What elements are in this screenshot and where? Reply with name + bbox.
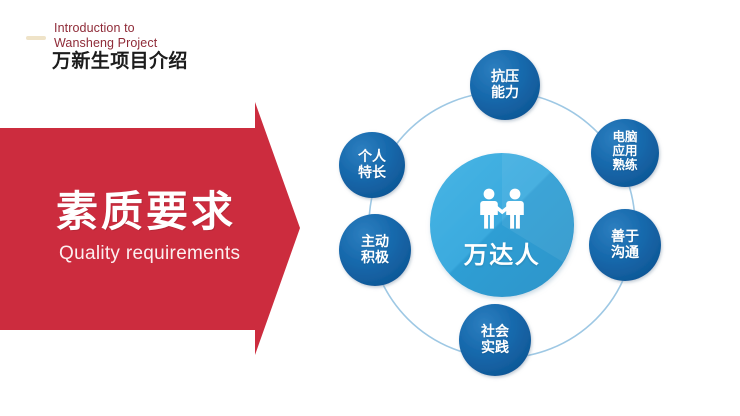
node-resilience: [470, 50, 540, 120]
header-dash-icon: [26, 36, 46, 40]
node-personal-skill: [339, 132, 405, 198]
center-node: [430, 153, 574, 297]
slide-header: Introduction to Wansheng Project 万新生项目介绍: [0, 0, 300, 95]
diagram-graphics: [320, 22, 720, 402]
header-eyebrow-en: Introduction to Wansheng Project: [54, 21, 157, 50]
banner-title: 素质要求: [56, 189, 236, 235]
page-title: 万新生项目介绍: [52, 51, 188, 73]
banner-subtitle: Quality requirements: [59, 243, 240, 265]
competency-diagram: 抗压 能力 电脑 应用 熟练 善于 沟通 社会 实践 主动 积极 个人 特长 万…: [320, 22, 720, 402]
node-proactive: [339, 214, 411, 286]
slide-canvas: Introduction to Wansheng Project 万新生项目介绍…: [0, 0, 740, 416]
node-social-practice: [459, 304, 531, 376]
center-node-label: 万达人: [442, 235, 562, 270]
node-communication: [589, 209, 661, 281]
node-computer-skill: [591, 119, 659, 187]
